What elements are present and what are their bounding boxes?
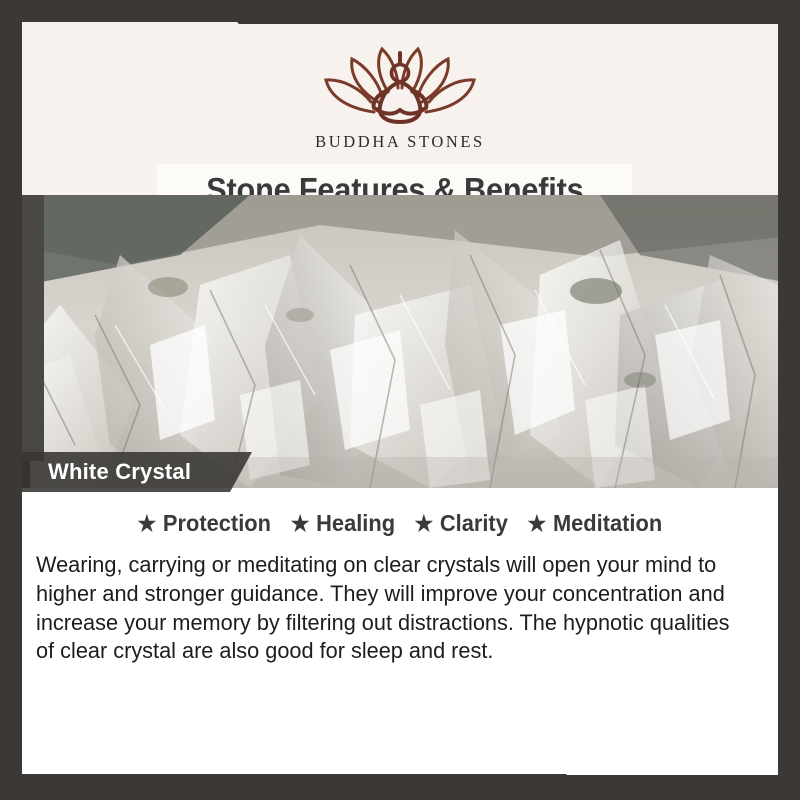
brand-name: BUDDHA STONES [315,132,485,152]
benefit-label: Healing [316,510,395,537]
star-icon: ★ [415,513,434,535]
stone-name: White Crystal [48,459,191,485]
benefit-label: Clarity [440,510,508,537]
frame-bottom-wedge [0,774,800,800]
benefit-item: ★ Clarity [415,510,508,537]
frame-right-rail [778,0,800,800]
brand-logo: BUDDHA STONES [0,46,800,152]
title-band: Stone Features & Benefits [157,164,632,195]
star-icon: ★ [291,513,310,535]
benefits-row: ★ Protection ★ Healing ★ Clarity ★ Medit… [22,510,778,537]
header-section: BUDDHA STONES Stone Features & Benefits [0,22,800,195]
benefit-label: Protection [163,510,271,537]
frame-left-rail [0,0,22,800]
benefit-item: ★ Protection [137,510,270,537]
lotus-meditation-figure-icon [316,46,484,128]
star-icon: ★ [137,513,156,535]
benefit-item: ★ Meditation [528,510,663,537]
benefit-item: ★ Healing [291,510,395,537]
photo-left-shadow-inner [22,195,44,461]
stone-name-banner: White Crystal [22,452,252,492]
infographic-card: BUDDHA STONES Stone Features & Benefits [0,0,800,800]
benefit-label: Meditation [553,510,662,537]
white-crystal-cluster-photo [0,195,800,488]
frame-top-wedge [0,0,800,24]
page-title: Stone Features & Benefits [206,171,583,195]
star-icon: ★ [528,513,547,535]
description-text: Wearing, carrying or meditating on clear… [36,551,739,666]
content-panel: ★ Protection ★ Healing ★ Clarity ★ Medit… [22,488,778,775]
